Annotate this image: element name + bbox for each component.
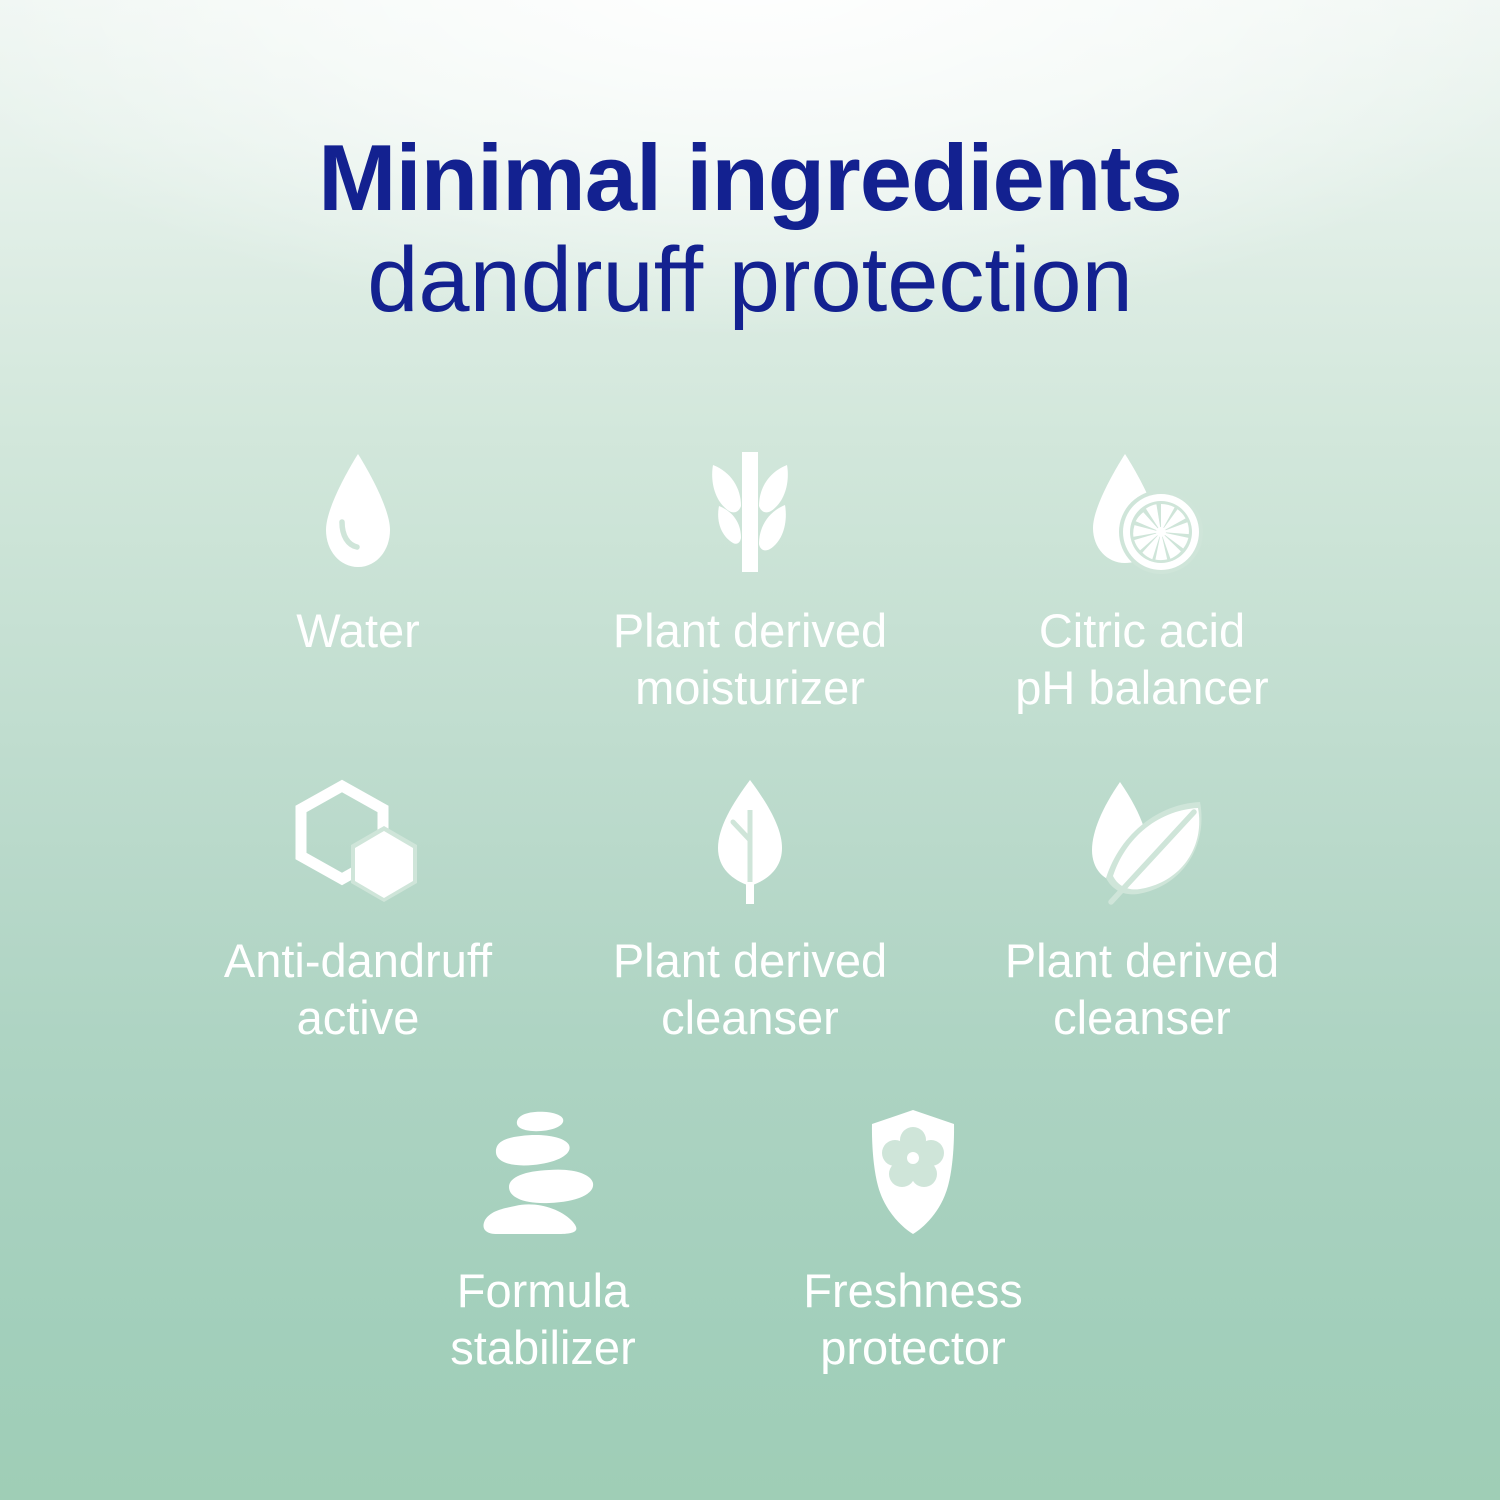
label-line-1: Citric acid: [1039, 604, 1245, 657]
droplet-citrus-slice-icon: [1079, 448, 1205, 576]
title-line-2: dandruff protection: [0, 230, 1500, 330]
plant-sprig-icon: [695, 448, 805, 576]
single-leaf-vein-icon: [700, 778, 800, 906]
ingredient-grid: Water: [0, 448, 1500, 1376]
label-line-2: pH balancer: [1015, 659, 1268, 716]
two-leaves-icon: [1072, 778, 1212, 906]
ingredient-item-citric-acid: Citric acid pH balancer: [946, 448, 1338, 716]
ingredient-label: Plant derived cleanser: [613, 932, 887, 1046]
infographic-canvas: Minimal ingredients dandruff protection …: [0, 0, 1500, 1500]
ingredient-item-plant-cleanser-leaves: Plant derived cleanser: [946, 778, 1338, 1046]
ingredient-row: Water: [0, 448, 1500, 716]
stacked-stones-icon: [473, 1108, 613, 1236]
ingredient-row: Anti-dandruff active: [0, 778, 1500, 1046]
label-line-1: Water: [296, 604, 420, 657]
ingredient-item-formula-stabilizer: Formula stabilizer: [358, 1108, 728, 1376]
ingredient-label: Plant derived cleanser: [1005, 932, 1279, 1046]
label-line-1: Plant derived: [613, 604, 887, 657]
shield-flower-icon: [858, 1108, 968, 1236]
ingredient-label: Citric acid pH balancer: [1015, 602, 1268, 716]
ingredient-item-anti-dandruff: Anti-dandruff active: [162, 778, 554, 1046]
water-droplet-icon: [308, 448, 408, 576]
label-line-2: protector: [803, 1319, 1022, 1376]
ingredient-label: Freshness protector: [803, 1262, 1022, 1376]
hexagon-molecule-icon: [288, 778, 428, 906]
ingredient-item-water: Water: [162, 448, 554, 716]
ingredient-label: Water: [296, 602, 420, 659]
ingredient-row: Formula stabilizer: [0, 1108, 1478, 1376]
label-line-1: Plant derived: [1005, 934, 1279, 987]
ingredient-item-freshness-protector: Freshness protector: [728, 1108, 1098, 1376]
label-line-2: stabilizer: [450, 1319, 635, 1376]
label-line-1: Anti-dandruff: [224, 934, 492, 987]
label-line-2: cleanser: [1005, 989, 1279, 1046]
page-title: Minimal ingredients dandruff protection: [0, 126, 1500, 330]
title-line-1: Minimal ingredients: [0, 126, 1500, 230]
ingredient-item-plant-moisturizer: Plant derived moisturizer: [554, 448, 946, 716]
label-line-1: Formula: [457, 1264, 629, 1317]
ingredient-item-plant-cleanser-leaf: Plant derived cleanser: [554, 778, 946, 1046]
ingredient-label: Anti-dandruff active: [224, 932, 492, 1046]
ingredient-label: Plant derived moisturizer: [613, 602, 887, 716]
label-line-2: active: [224, 989, 492, 1046]
label-line-1: Freshness: [803, 1264, 1022, 1317]
label-line-2: moisturizer: [613, 659, 887, 716]
ingredient-label: Formula stabilizer: [450, 1262, 635, 1376]
label-line-2: cleanser: [613, 989, 887, 1046]
label-line-1: Plant derived: [613, 934, 887, 987]
